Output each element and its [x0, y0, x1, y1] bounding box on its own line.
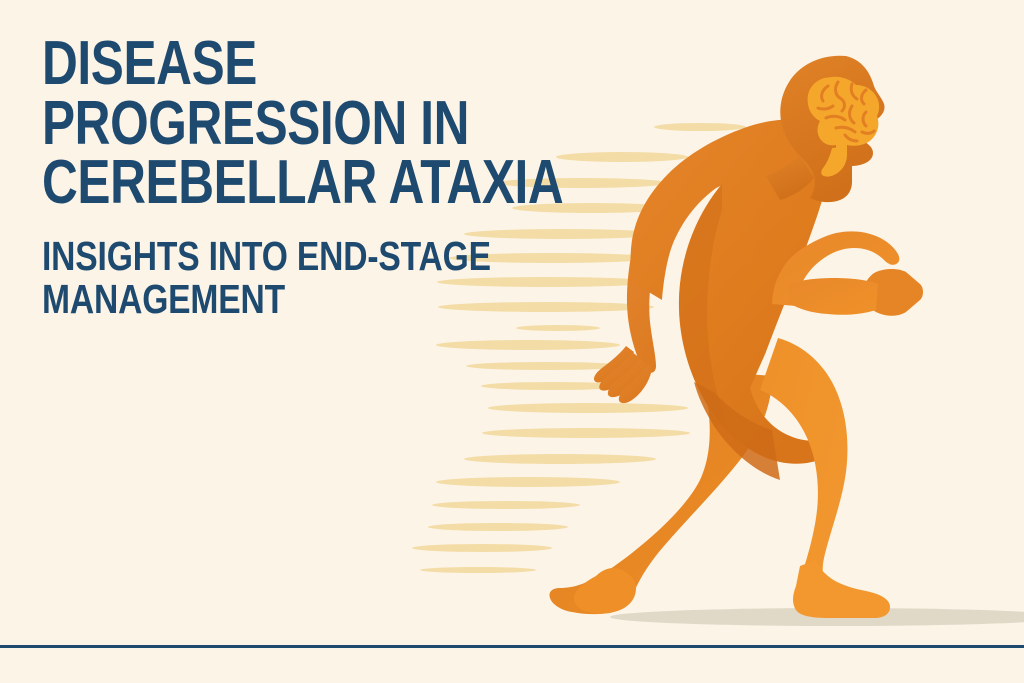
motion-trail-line	[436, 477, 620, 487]
motion-trail-line	[420, 567, 536, 573]
front-forearm	[788, 278, 878, 315]
motion-trail-line	[436, 340, 620, 350]
motion-trail-line	[488, 403, 688, 413]
page-subtitle: INSIGHTS INTO END-STAGE MANAGEMENT	[42, 235, 616, 321]
motion-trail-line	[516, 325, 600, 331]
front-foot	[793, 560, 890, 618]
back-foot	[574, 568, 636, 614]
bottom-divider	[0, 645, 1024, 648]
motion-trail-line	[464, 454, 656, 464]
motion-trail-line	[432, 501, 580, 509]
poster-canvas: DISEASE PROGRESSION IN CEREBELLAR ATAXIA…	[0, 0, 1024, 683]
motion-trail-line	[412, 544, 552, 552]
title-block: DISEASE PROGRESSION IN CEREBELLAR ATAXIA…	[42, 34, 742, 321]
page-title: DISEASE PROGRESSION IN CEREBELLAR ATAXIA	[42, 34, 602, 213]
motion-trail-line	[482, 428, 690, 438]
motion-trail-line	[428, 523, 568, 531]
